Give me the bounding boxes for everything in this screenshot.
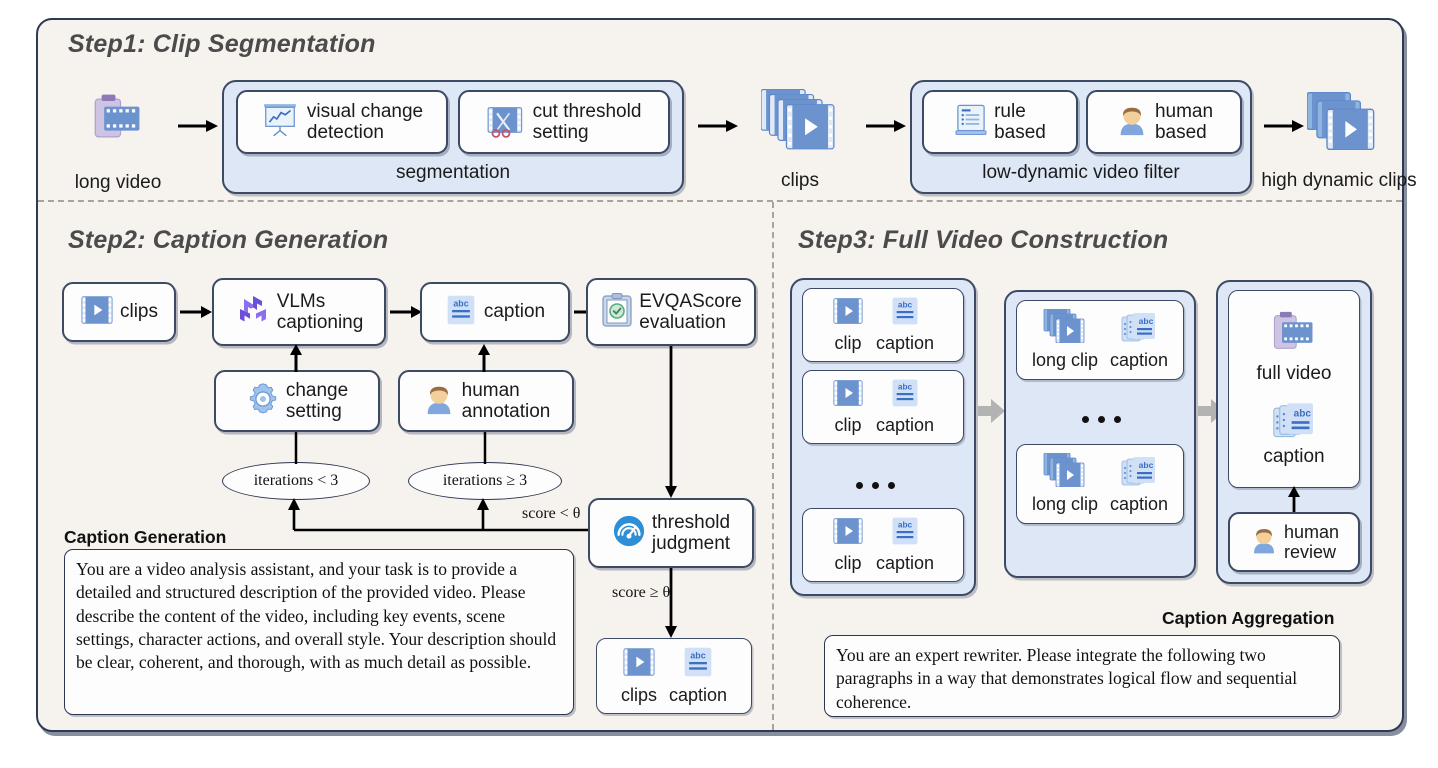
caption-label: caption (1110, 350, 1168, 371)
presentation-chart-icon (261, 101, 299, 144)
arrow-clips-to-vlms (180, 304, 214, 320)
node-threshold-judgment[interactable]: threshold judgment (588, 498, 754, 568)
arrow-evqa-to-threshold (663, 346, 679, 498)
arrow-longvideo-to-segmentation (178, 118, 220, 134)
node-label-line1: visual change (307, 101, 423, 122)
arrow-segmentation-to-clips (698, 118, 740, 134)
person-icon (1249, 525, 1279, 560)
film-play-icon (832, 378, 864, 413)
arrow-humanreview-to-fullvideo (1286, 486, 1302, 512)
long-video-icon (62, 86, 174, 150)
cassette-icon (1269, 310, 1319, 359)
person-icon (422, 382, 456, 421)
film-stack-icon (1043, 453, 1087, 492)
clip-label: clip (834, 553, 861, 574)
document-rules-icon (954, 103, 988, 142)
caption-generation-prompt-box: You are a video analysis assistant, and … (64, 549, 574, 715)
node-label-line1: EVQAScore (639, 291, 741, 312)
long-clip-label: long clip (1032, 494, 1098, 515)
abc-stack-icon (1272, 401, 1316, 444)
node-label-line1: human (1284, 522, 1339, 542)
node-label-line1: human (462, 380, 520, 401)
step3-full-video-cell[interactable]: full video caption (1228, 290, 1360, 488)
clip-label: clip (834, 415, 861, 436)
clipboard-check-icon (600, 292, 634, 333)
oval-iterations-lt-3: iterations < 3 (222, 462, 370, 500)
line-oval2-to-humanannotation (477, 432, 493, 464)
step3-col1-ellipsis (856, 482, 895, 489)
step3-col1-item-3[interactable]: clip caption (802, 508, 964, 582)
high-dynamic-clips-label: high dynamic clips (1258, 170, 1420, 192)
node-human-based[interactable]: human based (1086, 90, 1242, 154)
line-oval1-to-changesetting (288, 432, 304, 464)
abc-stack-icon (1120, 311, 1158, 348)
divider-horizontal (38, 200, 1402, 202)
abc-stack-icon (1120, 455, 1158, 492)
long-video-label: long video (62, 172, 174, 194)
node-label: clips (120, 301, 158, 322)
node-label-line2: detection (307, 122, 384, 143)
step3-col2-item-2[interactable]: long clip caption (1016, 444, 1184, 524)
node-label: caption (484, 301, 545, 322)
full-video-label: full video (1257, 363, 1332, 385)
abc-document-icon (890, 296, 920, 331)
divider-vertical (772, 202, 774, 730)
caption-label: caption (876, 415, 934, 436)
arrow-humanannotation-to-caption (476, 344, 492, 372)
node-label-line2: captioning (277, 312, 364, 333)
node-label-line1: threshold (652, 512, 730, 533)
vlm-logo-icon (235, 292, 271, 333)
node-label-line2: review (1284, 542, 1336, 562)
clips-stack-icon (744, 84, 856, 156)
edge-label-score-above-threshold: score ≥ θ (612, 584, 670, 602)
caption-aggregation-prompt-title: Caption Aggregation (1162, 608, 1334, 629)
node-change-setting[interactable]: change setting (214, 370, 380, 432)
step1-title: Step1: Clip Segmentation (68, 30, 376, 59)
clip-label: clip (834, 333, 861, 354)
node-cut-threshold-setting[interactable]: cut threshold setting (458, 90, 670, 154)
high-dynamic-clips-icon (1272, 88, 1412, 154)
node-evqascore-evaluation[interactable]: EVQAScore evaluation (586, 278, 756, 346)
abc-document-icon (445, 294, 477, 331)
node-label-line2: judgment (652, 533, 730, 554)
arrow-changesetting-to-vlms (288, 344, 304, 372)
caption-aggregation-prompt-box: You are an expert rewriter. Please integ… (824, 635, 1340, 717)
node-human-review[interactable]: human review (1228, 512, 1360, 572)
step3-col2-ellipsis (1082, 416, 1121, 423)
caption-label: caption (1110, 494, 1168, 515)
full-caption-label: caption (1263, 446, 1324, 468)
node-label-line2: setting (533, 122, 589, 143)
node-label-line2: based (994, 122, 1046, 143)
arrow-col1-to-col2 (978, 398, 1006, 429)
output-clips-label: clips (621, 685, 657, 706)
node-step2-clips[interactable]: clips (62, 282, 176, 342)
film-play-icon (80, 294, 114, 331)
film-stack-icon (1043, 309, 1087, 348)
node-label-line2: annotation (462, 401, 551, 422)
step3-title: Step3: Full Video Construction (798, 226, 1168, 255)
gear-icon (246, 382, 280, 421)
film-scissors-icon (487, 101, 525, 144)
filter-group-label: low-dynamic video filter (910, 162, 1252, 184)
node-human-annotation[interactable]: human annotation (398, 370, 574, 432)
gauge-icon (612, 514, 646, 553)
abc-document-icon (682, 646, 714, 683)
node-label-line2: evaluation (639, 312, 726, 333)
step3-col1-item-1[interactable]: clip caption (802, 288, 964, 362)
abc-document-icon (890, 378, 920, 413)
segmentation-group-label: segmentation (222, 162, 684, 184)
oval-label: iterations < 3 (254, 472, 339, 490)
clips-label: clips (744, 170, 856, 192)
long-clip-label: long clip (1032, 350, 1098, 371)
node-rule-based[interactable]: rule based (922, 90, 1078, 154)
step3-col1-item-2[interactable]: clip caption (802, 370, 964, 444)
arrow-threshold-to-output (663, 568, 679, 638)
person-icon (1115, 103, 1149, 142)
node-label-line2: based (1155, 122, 1207, 143)
abc-document-icon (890, 516, 920, 551)
node-label-line1: rule (994, 101, 1026, 122)
step2-title: Step2: Caption Generation (68, 226, 388, 255)
figure-root: abc (0, 0, 1438, 768)
node-label-line1: human (1155, 101, 1213, 122)
node-label-line1: VLMs (277, 291, 326, 312)
node-label-line2: setting (286, 401, 342, 422)
film-play-icon (622, 646, 656, 683)
caption-label: caption (876, 333, 934, 354)
output-caption-label: caption (669, 685, 727, 706)
node-caption[interactable]: caption (420, 282, 570, 342)
edge-label-score-below-threshold: score < θ (522, 505, 580, 523)
node-step2-output[interactable]: clips caption (596, 638, 752, 714)
caption-generation-prompt-title: Caption Generation (64, 527, 226, 548)
arrow-vlms-to-caption (390, 304, 424, 320)
oval-iterations-gte-3: iterations ≥ 3 (408, 462, 562, 500)
film-play-icon (832, 516, 864, 551)
node-label-line1: change (286, 380, 348, 401)
step3-col2-item-1[interactable]: long clip caption (1016, 300, 1184, 380)
caption-label: caption (876, 553, 934, 574)
oval-label: iterations ≥ 3 (443, 472, 527, 490)
node-visual-change-detection[interactable]: visual change detection (236, 90, 448, 154)
film-play-icon (832, 296, 864, 331)
arrow-clips-to-filter (866, 118, 908, 134)
node-vlms-captioning[interactable]: VLMs captioning (212, 278, 386, 346)
node-label-line1: cut threshold (533, 101, 642, 122)
